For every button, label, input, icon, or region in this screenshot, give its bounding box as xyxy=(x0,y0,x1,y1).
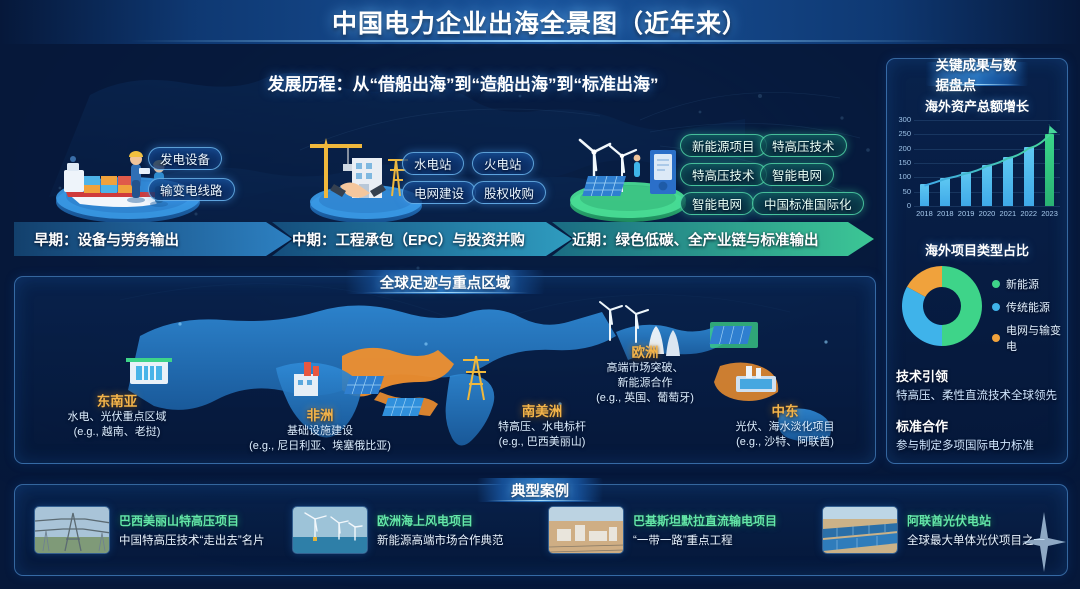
donut-slice xyxy=(902,287,942,346)
stage-recent-tag-4[interactable]: 智能电网 xyxy=(680,192,754,215)
legend-item-1: 传统能源 xyxy=(992,299,1070,315)
stage-recent-tag-2[interactable]: 特高压技术 xyxy=(680,163,767,186)
region-label-desc2: (e.g., 尼日利亚、埃塞俄比亚) xyxy=(220,439,420,454)
region-southeast-asia: 东南亚 水电、光伏重点区域 (e.g., 越南、老挝) xyxy=(22,390,212,440)
region-label-desc1: 光伏、海水淡化项目 xyxy=(700,420,870,435)
region-africa: 非洲 基础设施建设 (e.g., 尼日利亚、埃塞俄比亚) xyxy=(220,404,420,454)
region-label-desc2: 新能源合作 xyxy=(570,376,720,391)
development-heading: 发展历程：从“借船出海”到“造船出海”到“标准出海” xyxy=(238,70,688,95)
case-desc: 新能源高端市场合作典范 xyxy=(377,532,504,548)
region-label-name: 欧洲 xyxy=(570,341,720,361)
stage-recent-arrow: 近期：绿色低碳、全产业链与标准输出 xyxy=(552,222,874,256)
cargo-ship-icon xyxy=(36,118,226,228)
asset-growth-bar-chart: 0501001502002503002018201820192020202120… xyxy=(894,116,1064,220)
stage-early-tag-0[interactable]: 发电设备 xyxy=(148,147,222,170)
construction-crane-icon xyxy=(296,124,436,228)
stage-middle-tag-1[interactable]: 火电站 xyxy=(472,152,534,175)
page-title-bar: 中国电力企业出海全景图（近年来） xyxy=(0,0,1080,44)
stage-middle-tag-2[interactable]: 电网建设 xyxy=(402,181,476,204)
region-south-america: 南美洲 特高压、水电标杆 (e.g., 巴西美丽山) xyxy=(452,400,632,450)
region-label-name: 中东 xyxy=(700,400,870,420)
region-europe: 欧洲 高端市场突破、 新能源合作 (e.g., 英国、葡萄牙) xyxy=(570,341,720,407)
region-middle-east: 中东 光伏、海水淡化项目 (e.g., 沙特、阿联酋) xyxy=(700,400,870,450)
offshore-wind-farm-photo xyxy=(292,506,368,554)
chart-trend-arrow xyxy=(894,116,1064,220)
stage-middle-tag-3[interactable]: 股权收购 xyxy=(472,181,546,204)
region-label-desc2: (e.g., 越南、老挝) xyxy=(22,425,212,440)
stage-recent-illustration xyxy=(558,118,698,228)
legend-item-2: 电网与输变电 xyxy=(992,322,1070,354)
region-label-name: 非洲 xyxy=(220,404,420,424)
region-label-desc1: 基础设施建设 xyxy=(220,424,420,439)
stage-early-tag-1[interactable]: 输变电线路 xyxy=(148,178,235,201)
stage-middle-illustration xyxy=(296,124,436,228)
case-card-1[interactable]: 欧洲海上风电项目 新能源高端市场合作典范 xyxy=(292,506,542,554)
project-type-donut-chart xyxy=(898,262,986,350)
infographic-root: 中国电力企业出海全景图（近年来） 发展历程：从“借船出海”到“造船出海”到“标准… xyxy=(0,0,1080,589)
region-label-desc3: (e.g., 英国、葡萄牙) xyxy=(570,391,720,406)
result-block-1: 标准合作 参与制定多项国际电力标准 xyxy=(896,416,1064,453)
stage-early-arrow-label: 早期：设备与劳务输出 xyxy=(34,229,179,250)
case-title: 巴西美丽山特高压项目 xyxy=(119,512,265,529)
legend-color-swatch xyxy=(992,334,1000,342)
project-type-chart-title: 海外项目类型占比 xyxy=(890,240,1064,259)
stage-middle-arrow-label: 中期：工程承包（EPC）与投资并购 xyxy=(292,229,525,250)
legend-label: 新能源 xyxy=(1006,276,1039,292)
result-block-0: 技术引领 特高压、柔性直流技术全球领先 xyxy=(896,366,1064,403)
region-label-desc2: (e.g., 沙特、阿联酋) xyxy=(700,435,870,450)
stage-recent-arrow-label: 近期：绿色低碳、全产业链与标准输出 xyxy=(572,229,819,250)
region-label-desc1: 特高压、水电标杆 xyxy=(452,420,632,435)
result-block-title: 技术引领 xyxy=(896,366,1064,385)
compass-star-decoration xyxy=(1022,512,1066,572)
desert-substation-photo xyxy=(548,506,624,554)
stage-recent-tag-5[interactable]: 中国标准国际化 xyxy=(752,192,864,215)
stage-early-arrow: 早期：设备与劳务输出 xyxy=(14,222,292,256)
legend-label: 电网与输变电 xyxy=(1006,322,1070,354)
result-block-title: 标准合作 xyxy=(896,416,1064,435)
page-title: 中国电力企业出海全景图（近年来） xyxy=(332,4,748,40)
power-transmission-tower-photo xyxy=(34,506,110,554)
region-label-name: 东南亚 xyxy=(22,390,212,410)
region-label-desc1: 高端市场突破、 xyxy=(570,361,720,376)
legend-item-0: 新能源 xyxy=(992,276,1070,292)
cases-panel-title: 典型案例 xyxy=(477,478,603,502)
wind-solar-icon xyxy=(558,118,698,228)
stage-recent-tag-0[interactable]: 新能源项目 xyxy=(680,134,767,157)
case-card-2[interactable]: 巴基斯坦默拉直流输电项目 “一带一路”重点工程 xyxy=(548,506,818,554)
stage-recent-tag-3[interactable]: 智能电网 xyxy=(760,163,834,186)
results-panel-title: 关键成果与数据盘点 xyxy=(926,62,1029,86)
case-title: 巴基斯坦默拉直流输电项目 xyxy=(633,512,777,529)
stage-middle-tag-0[interactable]: 水电站 xyxy=(402,152,464,175)
result-block-body: 特高压、柔性直流技术全球领先 xyxy=(896,387,1064,403)
legend-label: 传统能源 xyxy=(1006,299,1050,315)
stage-early-illustration xyxy=(36,118,226,228)
case-desc: 中国特高压技术“走出去”名片 xyxy=(119,532,265,548)
case-title: 欧洲海上风电项目 xyxy=(377,512,504,529)
legend-color-swatch xyxy=(992,280,1000,288)
legend-color-swatch xyxy=(992,303,1000,311)
donut-slice xyxy=(942,266,982,346)
case-card-0[interactable]: 巴西美丽山特高压项目 中国特高压技术“走出去”名片 xyxy=(34,506,284,554)
case-desc: “一带一路”重点工程 xyxy=(633,532,777,548)
asset-growth-chart-title: 海外资产总额增长 xyxy=(890,96,1064,115)
solar-farm-photo xyxy=(822,506,898,554)
stage-recent-tag-1[interactable]: 特高压技术 xyxy=(760,134,847,157)
project-type-legend: 新能源 传统能源 电网与输变电 xyxy=(992,276,1070,361)
stage-middle-arrow: 中期：工程承包（EPC）与投资并购 xyxy=(272,222,572,256)
region-label-desc1: 水电、光伏重点区域 xyxy=(22,410,212,425)
region-label-desc2: (e.g., 巴西美丽山) xyxy=(452,435,632,450)
result-block-body: 参与制定多项国际电力标准 xyxy=(896,437,1064,453)
